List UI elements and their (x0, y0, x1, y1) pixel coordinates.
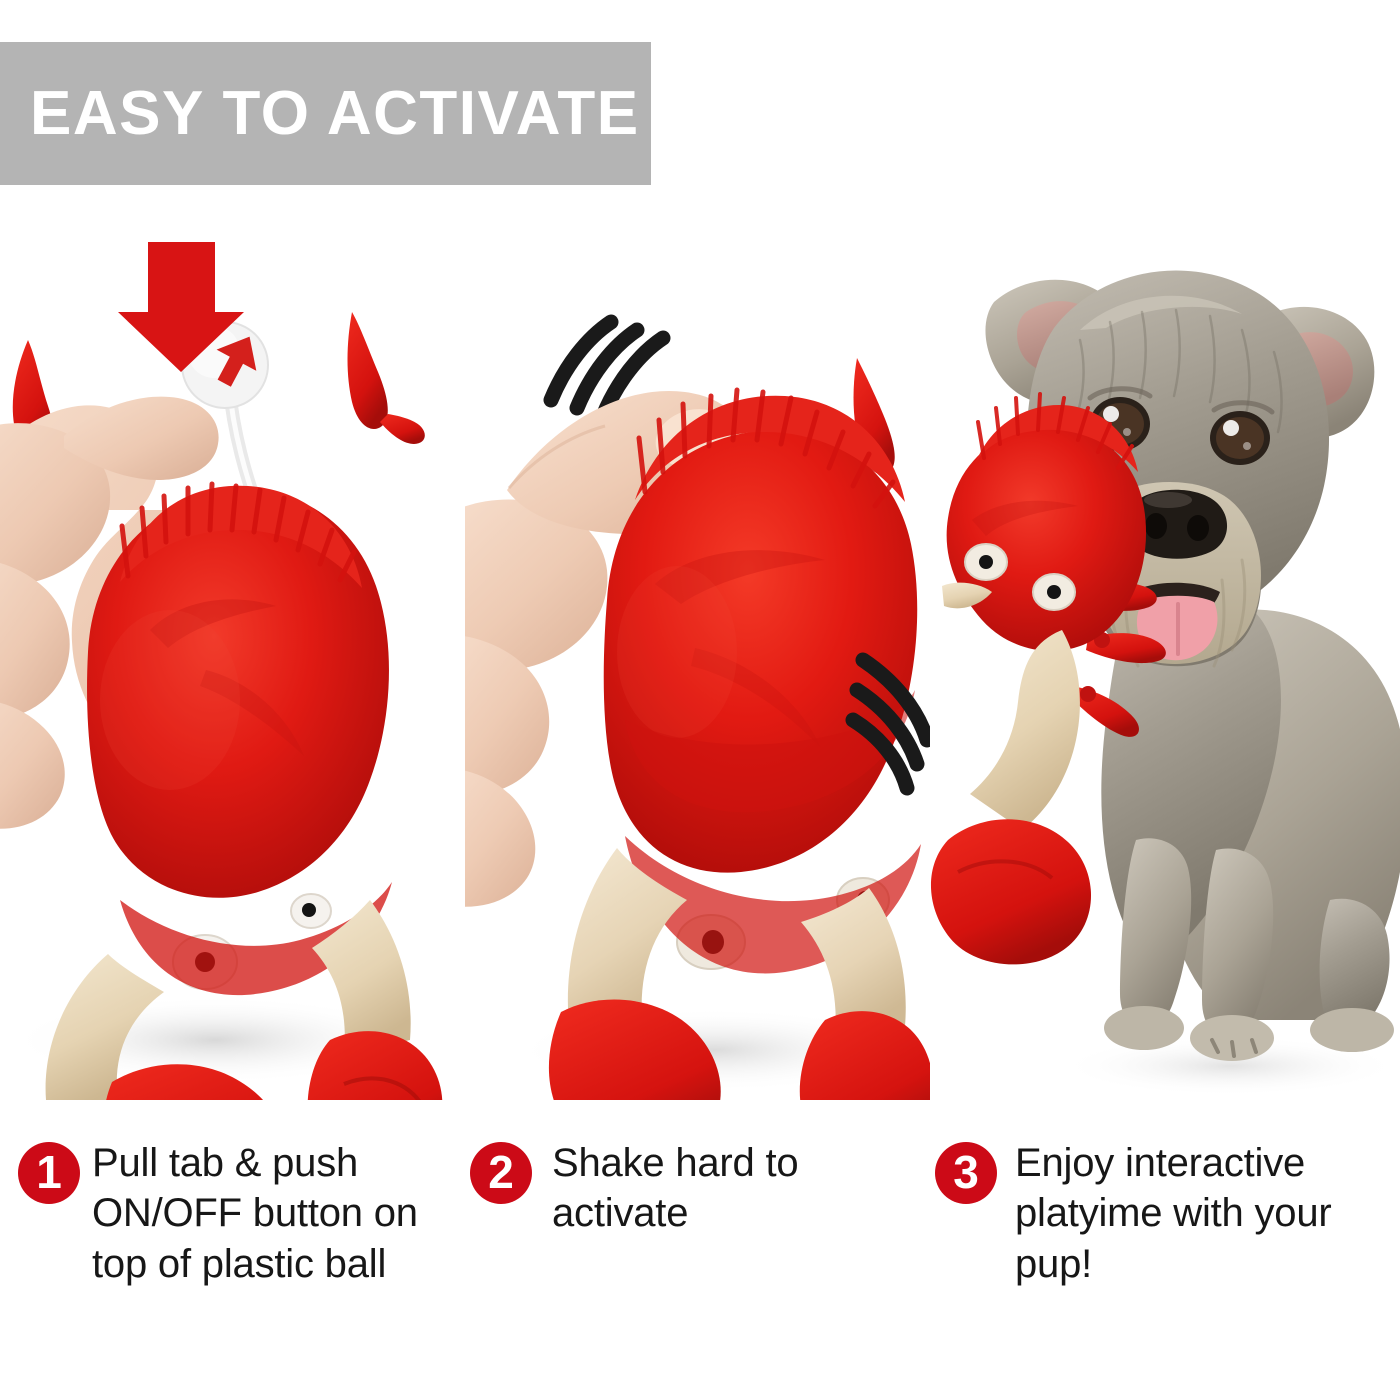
header-banner: EASY TO ACTIVATE (0, 42, 651, 185)
caption-row: 1 Pull tab & push ON/OFF button on top o… (0, 1120, 1400, 1380)
step-1: 1 Pull tab & push ON/OFF button on top o… (18, 1120, 458, 1289)
step-2-badge: 2 (470, 1142, 532, 1204)
step-3: 3 Enjoy interactive platyime with your p… (935, 1120, 1385, 1289)
panel-3-illustration (930, 200, 1400, 1100)
page-title: EASY TO ACTIVATE (0, 83, 640, 145)
infographic-root: EASY TO ACTIVATE (0, 0, 1400, 1400)
step-3-badge: 3 (935, 1142, 997, 1204)
panel-pull-tab-and-push-button (0, 200, 462, 1100)
panel-row (0, 200, 1400, 1100)
panel-divider-1 (462, 200, 465, 1100)
step-1-text: Pull tab & push ON/OFF button on top of … (92, 1120, 458, 1289)
step-2: 2 Shake hard to activate (470, 1120, 910, 1239)
panel-2-illustration (465, 200, 930, 1100)
panel-dog-with-toy (930, 200, 1400, 1100)
step-1-badge: 1 (18, 1142, 80, 1204)
panel-1-illustration (0, 200, 462, 1100)
step-2-text: Shake hard to activate (552, 1120, 910, 1239)
step-3-text: Enjoy interactive platyime with your pup… (1015, 1120, 1385, 1289)
panel-shake-toy-to-activate (465, 200, 930, 1100)
